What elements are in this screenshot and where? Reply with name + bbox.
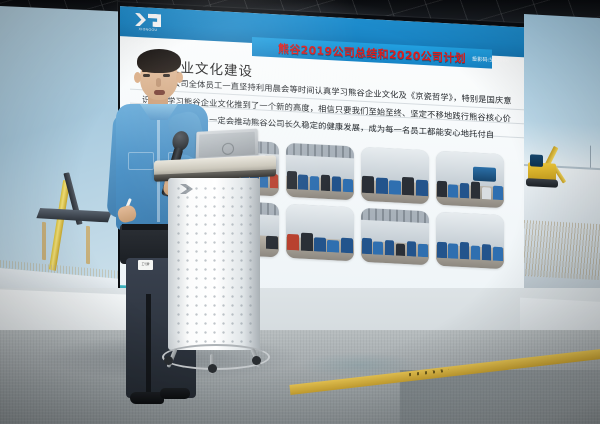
led-wall-right-panel — [524, 14, 600, 314]
lectern — [160, 158, 268, 373]
presenter-eye — [163, 74, 170, 77]
xiongu-company-logo-icon: XIONGGU — [126, 9, 170, 35]
logo-wordmark: XIONGGU — [139, 27, 158, 32]
presenter-ear — [176, 72, 183, 83]
presenter-nose — [156, 78, 161, 87]
photo-cell — [436, 151, 504, 209]
photo-scene: XIONGGU 熊谷2019公司总结和2020公司计划 投影码:553986 企… — [0, 0, 600, 424]
photo-cell — [286, 143, 354, 201]
photo-cell — [361, 147, 429, 205]
lectern-caster — [164, 356, 173, 365]
stage-floor — [0, 330, 600, 424]
led-wall-left-panel — [0, 6, 118, 311]
employee-badge-text: 工号牌 — [142, 264, 150, 267]
presenter-mouth — [154, 90, 165, 95]
lectern-caster — [252, 356, 261, 365]
jacket-pocket — [128, 152, 154, 170]
photo-cell — [361, 208, 429, 266]
lectern-caster — [208, 364, 217, 373]
presenter-ear — [134, 72, 141, 83]
presenter-eyebrow — [142, 70, 151, 72]
lectern-logo-icon — [180, 184, 193, 194]
logo-mark-shape — [135, 13, 161, 27]
site-post — [42, 222, 46, 260]
crane-mast-icon — [49, 180, 70, 271]
lectern-column — [168, 178, 260, 350]
photo-cell — [436, 212, 504, 270]
reed-field — [524, 220, 600, 280]
excavator-track — [526, 178, 558, 188]
presenter-eye — [143, 74, 150, 77]
site-post — [86, 226, 90, 264]
presenter-shoe — [160, 388, 190, 399]
excavator-icon — [528, 146, 572, 194]
presenter-shoe — [130, 392, 164, 404]
distant-tower — [590, 146, 591, 168]
trouser-seam — [146, 294, 151, 400]
lectern-perforation-pattern — [174, 184, 254, 344]
lifted-panel — [36, 208, 113, 223]
presenter-eyebrow — [162, 70, 171, 72]
strip-fastener-dots — [409, 369, 449, 377]
excavator-cab — [530, 154, 543, 167]
photo-cell — [286, 204, 354, 262]
employee-badge: 工号牌 — [138, 260, 153, 270]
